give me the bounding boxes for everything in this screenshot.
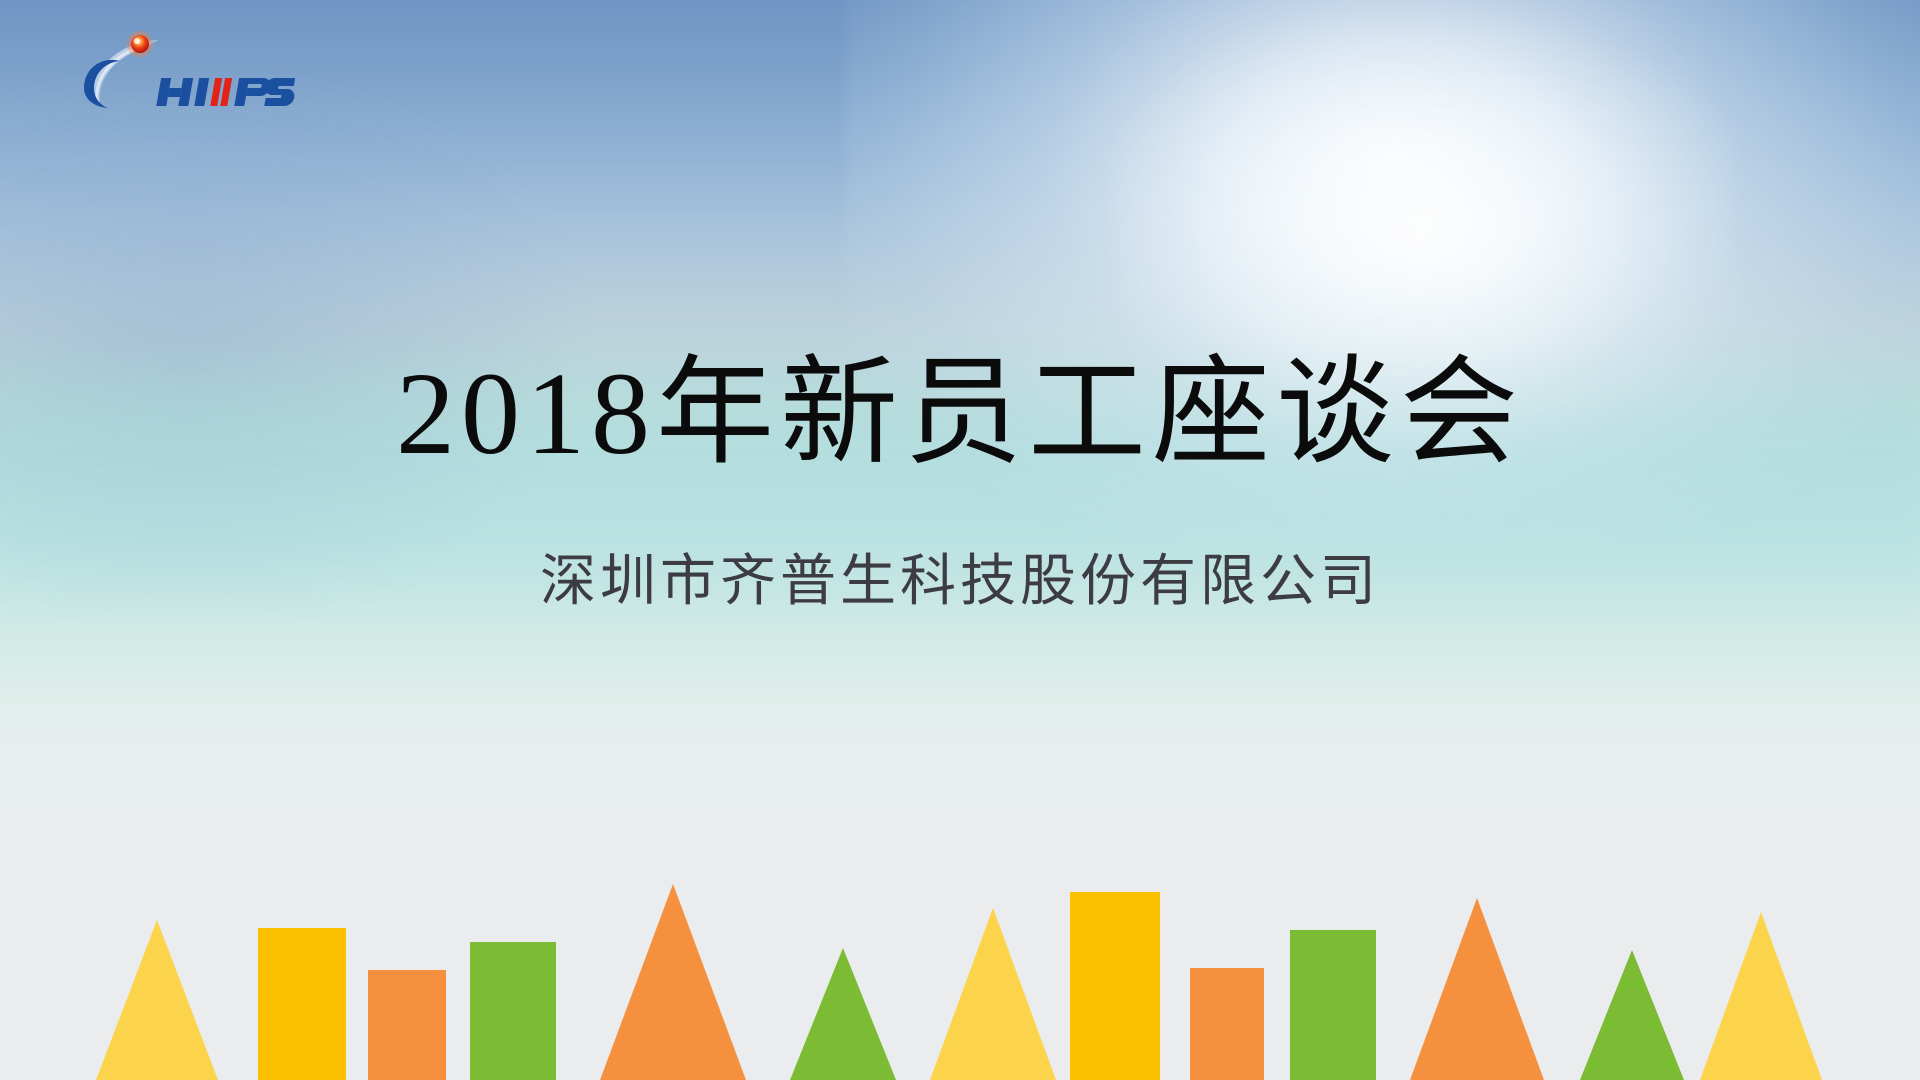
deco-rectangle	[1190, 968, 1264, 1080]
page-subtitle: 深圳市齐普生科技股份有限公司	[0, 549, 1920, 616]
presentation-slide: 2018年新员工座谈会 深圳市齐普生科技股份有限公司	[0, 0, 1920, 1080]
deco-rectangle	[368, 970, 446, 1080]
hips-logo	[78, 28, 308, 110]
deco-triangle	[1700, 912, 1822, 1080]
deco-triangle	[600, 884, 746, 1080]
deco-rectangle	[1290, 930, 1376, 1080]
bottom-shape-band	[0, 830, 1920, 1080]
deco-triangle	[1580, 950, 1684, 1080]
title-block: 2018年新员工座谈会 深圳市齐普生科技股份有限公司	[0, 350, 1920, 617]
deco-triangle	[790, 948, 896, 1080]
logo-dot-icon	[127, 31, 153, 57]
deco-triangle	[1410, 898, 1544, 1080]
deco-rectangle	[470, 942, 556, 1080]
logo-wordmark	[156, 78, 297, 106]
deco-rectangle	[258, 928, 346, 1080]
deco-triangle	[930, 908, 1056, 1080]
page-title: 2018年新员工座谈会	[0, 350, 1920, 477]
deco-triangle	[96, 920, 218, 1080]
deco-rectangle	[1070, 892, 1160, 1080]
